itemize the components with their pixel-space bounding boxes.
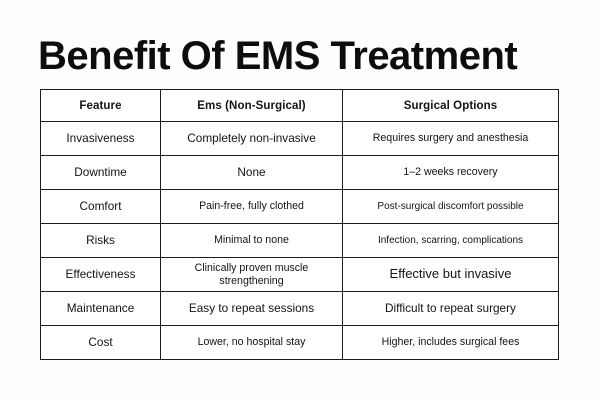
column-header-ems: Ems (Non-Surgical) (161, 90, 343, 122)
cell-feature: Downtime (41, 156, 161, 190)
table-row: Maintenance Easy to repeat sessions Diff… (41, 292, 559, 326)
page-title: Benefit Of EMS Treatment (38, 33, 562, 79)
column-header-surgical: Surgical Options (343, 90, 559, 122)
cell-feature: Maintenance (41, 292, 161, 326)
cell-ems: Lower, no hospital stay (161, 326, 343, 360)
cell-ems: Pain-free, fully clothed (161, 190, 343, 224)
cell-feature: Comfort (41, 190, 161, 224)
cell-feature: Cost (41, 326, 161, 360)
cell-feature: Risks (41, 224, 161, 258)
cell-ems: Minimal to none (161, 224, 343, 258)
cell-surgical: Infection, scarring, complications (343, 224, 559, 258)
cell-surgical: Requires surgery and anesthesia (343, 122, 559, 156)
cell-feature: Effectiveness (41, 258, 161, 292)
table-row: Effectiveness Clinically proven muscle s… (41, 258, 559, 292)
cell-surgical: 1–2 weeks recovery (343, 156, 559, 190)
cell-ems: None (161, 156, 343, 190)
cell-feature: Invasiveness (41, 122, 161, 156)
cell-surgical: Post-surgical discomfort possible (343, 190, 559, 224)
table-row: Risks Minimal to none Infection, scarrin… (41, 224, 559, 258)
table-header-row: Feature Ems (Non-Surgical) Surgical Opti… (41, 90, 559, 122)
table-row: Comfort Pain-free, fully clothed Post-su… (41, 190, 559, 224)
column-header-feature: Feature (41, 90, 161, 122)
cell-ems: Completely non-invasive (161, 122, 343, 156)
comparison-table: Feature Ems (Non-Surgical) Surgical Opti… (40, 89, 559, 360)
cell-surgical: Effective but invasive (343, 258, 559, 292)
cell-surgical: Higher, includes surgical fees (343, 326, 559, 360)
table-row: Invasiveness Completely non-invasive Req… (41, 122, 559, 156)
table-body: Invasiveness Completely non-invasive Req… (41, 122, 559, 360)
cell-surgical: Difficult to repeat surgery (343, 292, 559, 326)
document-page: Benefit Of EMS Treatment Feature Ems (No… (0, 0, 600, 400)
cell-ems: Clinically proven muscle strengthening (161, 258, 343, 292)
table-row: Downtime None 1–2 weeks recovery (41, 156, 559, 190)
table-row: Cost Lower, no hospital stay Higher, inc… (41, 326, 559, 360)
cell-ems: Easy to repeat sessions (161, 292, 343, 326)
table-header: Feature Ems (Non-Surgical) Surgical Opti… (41, 90, 559, 122)
